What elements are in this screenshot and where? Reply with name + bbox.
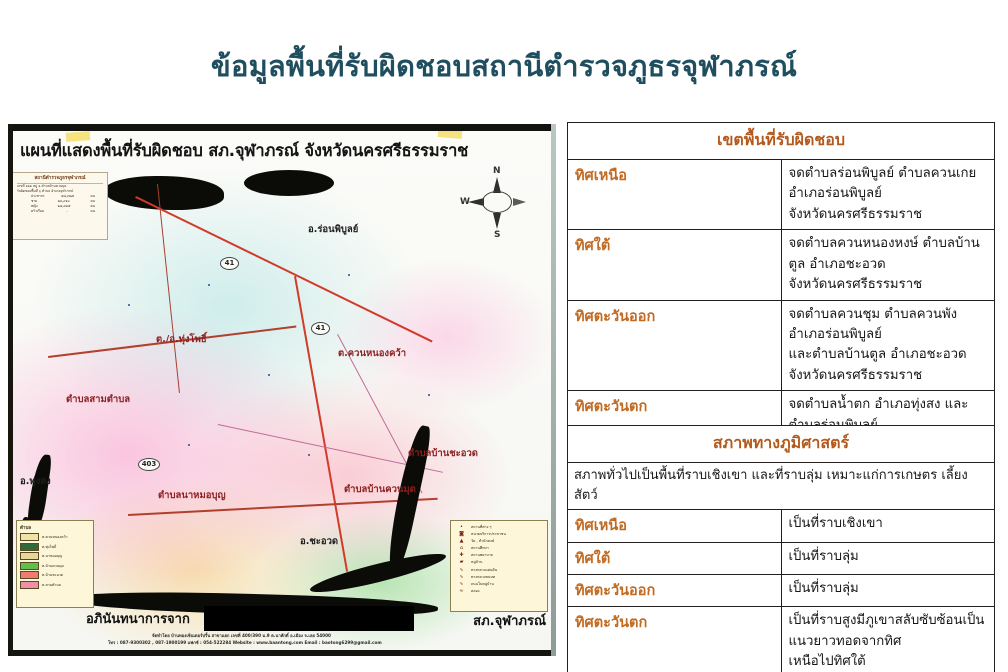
symbol-legend-item: • สถานที่ต่าง ๆ <box>455 524 543 530</box>
credit-fineprint-line1: จัดทำโดย บ้านทองเซ็นเตอร์ปริ้น สาขาแยก เ… <box>152 632 331 639</box>
description-line: เป็นที่ราบสูงมีภูเขาสลับซับซ้อนเป็นแนวยา… <box>789 611 988 652</box>
compass-label-north: N <box>493 166 501 176</box>
symbol-legend-item: ≈ คลอง <box>455 588 543 594</box>
symbol-legend-label: สถานพยาบาล <box>471 552 493 558</box>
info-value: - <box>67 209 68 214</box>
symbol-legend-item: ✚ สถานพยาบาล <box>455 552 543 558</box>
table-row: ทิศตะวันออก จดตำบลควนชุม ตำบลควนพัง อำเภ… <box>568 300 995 391</box>
place-dot-icon <box>188 444 190 446</box>
legend-swatch <box>20 581 39 589</box>
water-icon: ≈ <box>455 588 468 594</box>
compass-label-west: W <box>460 197 470 207</box>
photo-edge <box>8 124 13 656</box>
direction-description: เป็นที่ราบลุ่ม <box>781 542 995 574</box>
legend-item: ต.บ้านชะอวด <box>20 571 90 579</box>
direction-label-east: ทิศตะวันออก <box>568 575 782 607</box>
map-label-district: อ.ร่อนพิบูลย์ <box>308 222 358 237</box>
map-label-subdistrict: ตำบลสามตำบล <box>66 392 130 407</box>
place-dot-icon <box>428 394 430 396</box>
place-dot-icon <box>308 454 310 456</box>
direction-description: จดตำบลควนหนองหงษ์ ตำบลบ้านตูล อำเภอชะอวด… <box>781 230 995 300</box>
legend-swatch <box>20 543 39 551</box>
photo-edge <box>8 124 556 131</box>
table-header-title: เขตพื้นที่รับผิดชอบ <box>568 123 995 160</box>
table-row: ทิศตะวันตก เป็นที่ราบสูงมีภูเขาสลับซับซ้… <box>568 607 995 672</box>
table-row: ทิศใต้ เป็นที่ราบลุ่ม <box>568 542 995 574</box>
station-info-row: ครัวเรือน - คน <box>17 209 103 214</box>
symbol-legend-item: ∿ ทางหลวงชนบท <box>455 574 543 580</box>
route-shield-icon: 41 <box>311 322 330 335</box>
legend-item: ต.บ้านควนมุด <box>20 562 90 570</box>
legend-label: ต.ทุ่งโพธิ์ <box>42 544 56 550</box>
table-row: ทิศเหนือ เป็นที่ราบเชิงเขา <box>568 510 995 542</box>
compass-south-needle <box>493 213 501 229</box>
legend-label: ต.สามตำบล <box>42 582 61 588</box>
description-line: เป็นที่ราบลุ่ม <box>789 547 988 567</box>
map-label-subdistrict: ตำบลบ้านควนมุด <box>344 482 416 497</box>
compass-ring <box>482 191 512 213</box>
direction-label-south: ทิศใต้ <box>568 230 782 300</box>
symbol-legend-label: หน่วยบริการประชาชน <box>471 531 506 537</box>
direction-description: เป็นที่ราบสูงมีภูเขาสลับซับซ้อนเป็นแนวยา… <box>781 607 995 672</box>
description-line: เป็นที่ราบเชิงเขา <box>789 514 988 534</box>
direction-label-west: ทิศตะวันตก <box>568 607 782 672</box>
description-line: เหนือไปทิศใต้ <box>789 652 988 672</box>
map-label-subdistrict: ตำบลนาหมอบุญ <box>158 488 226 503</box>
credit-fineprint-line2: โทร : 087-9300302 , 087-1900199 แฟกซ์ : … <box>108 639 382 646</box>
direction-label-south: ทิศใต้ <box>568 542 782 574</box>
legend-item: ต.นาหมอบุญ <box>20 552 90 560</box>
legend-item: ต.ควนหนองคว้า <box>20 533 90 541</box>
symbol-legend-label: สถานที่ต่าง ๆ <box>471 524 491 530</box>
map-boundary-shade <box>244 170 334 196</box>
description-line: จดตำบลควนชุม ตำบลควนพัง อำเภอร่อนพิบูลย์ <box>789 305 988 346</box>
map-image: 41 41 403 แผนที่แสดงพื้นที่รับผิดชอบ สภ.… <box>8 124 556 656</box>
school-icon: ⌂ <box>455 545 468 551</box>
rural-road-icon: ∿ <box>455 574 468 580</box>
legend-item: ต.สามตำบล <box>20 581 90 589</box>
map-symbol-legend: • สถานที่ต่าง ๆ ◙ หน่วยบริการประชาชน ▲ ว… <box>450 520 548 612</box>
legend-swatch <box>20 571 39 579</box>
description-line: จังหวัดนครศรีธรรมราช <box>789 205 988 225</box>
legend-label: ต.นาหมอบุญ <box>42 553 62 559</box>
symbol-legend-item: ▲ วัด , สำนักสงฆ์ <box>455 538 543 544</box>
table-row: ทิศเหนือ จดตำบลร่อนพิบูลย์ ตำบลควนเกย อำ… <box>568 159 995 229</box>
compass-east-needle <box>513 198 526 206</box>
symbol-legend-item: ▰ หมู่บ้าน <box>455 559 543 565</box>
geography-summary: สภาพทั่วไปเป็นพื้นที่ราบเชิงเขา และที่รา… <box>568 462 995 509</box>
station-info-title: สถานีตำรวจภูธรจุฬาภรณ์ <box>17 176 103 184</box>
description-line: เป็นที่ราบลุ่ม <box>789 579 988 599</box>
credit-prefix: อภินันทนาการจาก <box>86 608 190 629</box>
station-info-panel: สถานีตำรวจภูธรจุฬาภรณ์ เลขที่ ๑๑๑ หมู่ ๑… <box>12 172 108 240</box>
photo-edge <box>8 650 556 656</box>
symbol-legend-label: ทางหลวงชนบท <box>471 574 495 580</box>
map-label-subdistrict: ต.ควนหนองคว้า <box>338 346 406 361</box>
map-color-legend: ตำบล ต.ควนหนองคว้า ต.ทุ่งโพธิ์ ต.นาหมอบุ… <box>16 520 94 608</box>
legend-label: ต.ควนหนองคว้า <box>42 534 68 540</box>
symbol-legend-label: ถนนในหมู่บ้าน <box>471 581 494 587</box>
map-label-subdistrict: ต./อ.ทุ่งโพธิ์ <box>156 332 207 347</box>
direction-label-east: ทิศตะวันออก <box>568 300 782 391</box>
map-label-district: อ.ทุ่งสง <box>20 474 51 489</box>
symbol-legend-label: คลอง <box>471 588 480 594</box>
direction-description: จดตำบลร่อนพิบูลย์ ตำบลควนเกย อำเภอร่อนพิ… <box>781 159 995 229</box>
table-row: ทิศใต้ จดตำบลควนหนองหงษ์ ตำบลบ้านตูล อำเ… <box>568 230 995 300</box>
direction-description: เป็นที่ราบเชิงเขา <box>781 510 995 542</box>
table-row: ทิศตะวันออก เป็นที่ราบลุ่ม <box>568 575 995 607</box>
legend-label: ต.บ้านควนมุด <box>42 563 64 569</box>
legend-swatch <box>20 562 39 570</box>
table-header-row: สภาพทางภูมิศาสตร์ <box>568 426 995 463</box>
village-road-icon: ∿ <box>455 581 468 587</box>
photo-edge <box>551 124 556 656</box>
symbol-legend-label: สถานศึกษา <box>471 545 489 551</box>
description-line: และตำบลบ้านตูล อำเภอชะอวด จังหวัดนครศรีธ… <box>789 345 988 386</box>
description-line: จดตำบลร่อนพิบูลย์ ตำบลควนเกย อำเภอร่อนพิ… <box>789 164 988 205</box>
highway-icon: ∿ <box>455 567 468 573</box>
page-root: ข้อมูลพื้นที่รับผิดชอบสถานีตำรวจภูธรจุฬา… <box>0 0 1008 672</box>
compass-label-south: S <box>494 230 500 240</box>
info-unit: คน <box>91 209 95 214</box>
info-label: ครัวเรือน <box>31 209 44 214</box>
legend-label: ต.บ้านชะอวด <box>42 572 63 578</box>
place-dot-icon <box>268 374 270 376</box>
page-title: ข้อมูลพื้นที่รับผิดชอบสถานีตำรวจภูธรจุฬา… <box>0 48 1008 84</box>
map-credit-strip: อภินันทนาการจาก สภ.จุฬาภรณ์ จัดทำโดย บ้า… <box>86 606 548 650</box>
building-icon: ◙ <box>455 531 468 537</box>
symbol-legend-label: วัด , สำนักสงฆ์ <box>471 538 494 544</box>
legend-title: ตำบล <box>20 524 90 531</box>
symbol-legend-label: หมู่บ้าน <box>471 559 483 565</box>
direction-description: จดตำบลควนชุม ตำบลควนพัง อำเภอร่อนพิบูลย์… <box>781 300 995 391</box>
symbol-legend-label: ทางหลวงแผ่นดิน <box>471 567 497 573</box>
legend-item: ต.ทุ่งโพธิ์ <box>20 543 90 551</box>
legend-swatch <box>20 552 39 560</box>
direction-description: เป็นที่ราบลุ่ม <box>781 575 995 607</box>
dot-icon: • <box>455 524 468 530</box>
symbol-legend-item: ⌂ สถานศึกษา <box>455 545 543 551</box>
map-label-district: อ.ชะอวด <box>300 534 338 549</box>
place-dot-icon <box>128 304 130 306</box>
geography-table: สภาพทางภูมิศาสตร์ สภาพทั่วไปเป็นพื้นที่ร… <box>567 425 995 672</box>
route-shield-icon: 403 <box>138 458 160 471</box>
table-row: สภาพทั่วไปเป็นพื้นที่ราบเชิงเขา และที่รา… <box>568 462 995 509</box>
symbol-legend-item: ∿ ทางหลวงแผ่นดิน <box>455 567 543 573</box>
hospital-icon: ✚ <box>455 552 468 558</box>
direction-label-north: ทิศเหนือ <box>568 159 782 229</box>
description-line: จดตำบลควนหนองหงษ์ ตำบลบ้านตูล อำเภอชะอวด <box>789 234 988 275</box>
legend-swatch <box>20 533 39 541</box>
direction-label-north: ทิศเหนือ <box>568 510 782 542</box>
redacted-block <box>204 606 414 631</box>
map-label-subdistrict: ตำบลบ้านชะอวด <box>408 446 478 461</box>
symbol-legend-item: ◙ หน่วยบริการประชาชน <box>455 531 543 537</box>
symbol-legend-item: ∿ ถนนในหมู่บ้าน <box>455 581 543 587</box>
table-header-title: สภาพทางภูมิศาสตร์ <box>568 426 995 463</box>
credit-station-name: สภ.จุฬาภรณ์ <box>473 610 546 631</box>
place-dot-icon <box>208 284 210 286</box>
route-shield-icon: 41 <box>220 257 239 270</box>
info-value: ๒๔,๔๑๕ <box>58 204 71 209</box>
table-header-row: เขตพื้นที่รับผิดชอบ <box>568 123 995 160</box>
map-title: แผนที่แสดงพื้นที่รับผิดชอบ สภ.จุฬาภรณ์ จ… <box>20 138 468 164</box>
description-line: จังหวัดนครศรีธรรมราช <box>789 275 988 295</box>
compass-rose-icon: N S W <box>460 166 534 240</box>
place-dot-icon <box>348 274 350 276</box>
village-icon: ▰ <box>455 559 468 565</box>
temple-icon: ▲ <box>455 538 468 544</box>
